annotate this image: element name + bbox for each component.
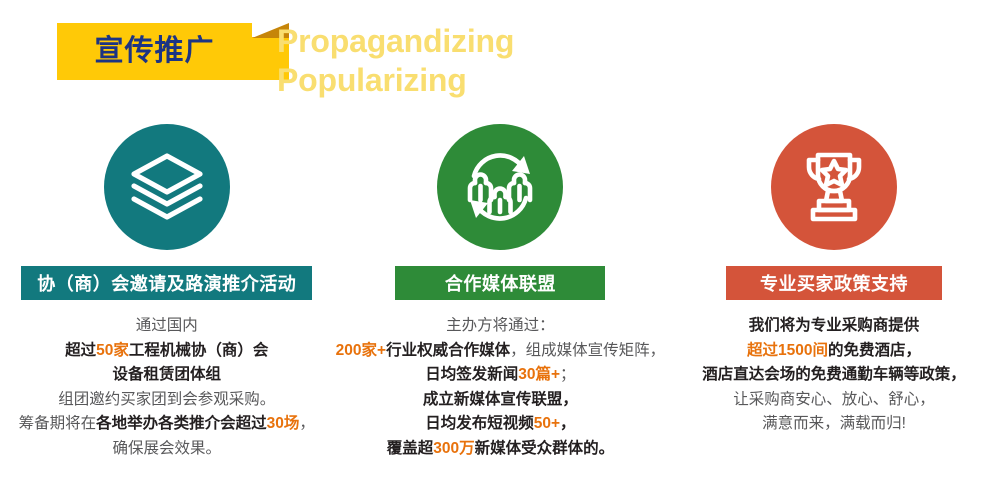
text-segment: ， bbox=[299, 415, 315, 432]
body-text-line: 日均发布短视频50+， bbox=[335, 412, 665, 437]
body-text-line: 让采购商安心、放心、舒心， bbox=[669, 388, 999, 413]
body-text-3: 我们将为专业采购商提供超过1500间的免费酒店，酒店直达会场的免费通勤车辆等政策… bbox=[669, 314, 999, 437]
text-segment: 设备租赁团体组 bbox=[113, 366, 222, 383]
icon-circle-2 bbox=[437, 124, 563, 250]
text-segment: 超过 bbox=[65, 342, 96, 359]
text-segment: 50+ bbox=[534, 415, 560, 432]
text-segment: ，组成媒体宣传矩阵， bbox=[510, 342, 665, 359]
text-segment: 各地举办各类推介会超过 bbox=[96, 415, 267, 432]
text-segment: 让采购商安心、放心、舒心， bbox=[733, 391, 935, 408]
body-text-line: 200家+行业权威合作媒体，组成媒体宣传矩阵， bbox=[335, 339, 665, 364]
section-banner: 宣传推广 bbox=[57, 23, 252, 80]
body-text-line: 超过50家工程机械协（商）会 bbox=[2, 339, 332, 364]
body-text-1: 通过国内超过50家工程机械协（商）会设备租赁团体组组团邀约买家团到会参观采购。筹… bbox=[2, 314, 332, 461]
body-text-line: 酒店直达会场的免费通勤车辆等政策， bbox=[669, 363, 999, 388]
text-segment: 50家 bbox=[96, 342, 129, 359]
text-segment: 新媒体受众群体的。 bbox=[475, 440, 615, 457]
text-segment: 行业权威合作媒体 bbox=[386, 342, 510, 359]
feature-columns: 协（商）会邀请及路演推介活动 通过国内超过50家工程机械协（商）会设备租赁团体组… bbox=[0, 112, 1001, 478]
text-segment: 成立新媒体宣传联盟， bbox=[423, 391, 578, 408]
text-segment: 主办方将通过： bbox=[446, 317, 555, 334]
text-segment: 筹备期将在 bbox=[19, 415, 97, 432]
text-segment: 我们将为专业采购商提供 bbox=[749, 317, 920, 334]
english-heading: Propagandizing Popularizing bbox=[277, 22, 514, 100]
text-segment: 确保展会效果。 bbox=[113, 440, 222, 457]
text-segment: 酒店直达会场的免费通勤车辆等政策， bbox=[702, 366, 966, 383]
body-text-line: 组团邀约买家团到会参观采购。 bbox=[2, 388, 332, 413]
text-segment: 30篇+ bbox=[518, 366, 560, 383]
page-header: 宣传推广 Propagandizing Popularizing bbox=[0, 0, 1001, 112]
chip-label-2: 合作媒体联盟 bbox=[395, 266, 605, 300]
feature-column-2: 合作媒体联盟 主办方将通过：200家+行业权威合作媒体，组成媒体宣传矩阵，日均签… bbox=[334, 112, 668, 478]
body-text-line: 满意而来，满载而归! bbox=[669, 412, 999, 437]
body-text-line: 设备租赁团体组 bbox=[2, 363, 332, 388]
trophy-star-icon bbox=[795, 149, 873, 225]
body-text-line: 通过国内 bbox=[2, 314, 332, 339]
icon-circle-3 bbox=[771, 124, 897, 250]
text-segment: 满意而来，满载而归! bbox=[762, 415, 906, 432]
text-segment: 通过国内 bbox=[136, 317, 198, 334]
body-text-line: 成立新媒体宣传联盟， bbox=[335, 388, 665, 413]
text-segment: 日均签发新闻 bbox=[425, 366, 518, 383]
english-heading-line1: Propagandizing bbox=[277, 23, 514, 59]
text-segment: 30场 bbox=[267, 415, 300, 432]
body-text-line: 超过1500间的免费酒店， bbox=[669, 339, 999, 364]
layers-icon bbox=[129, 151, 205, 223]
text-segment: 组团邀约买家团到会参观采购。 bbox=[58, 391, 275, 408]
body-text-2: 主办方将通过：200家+行业权威合作媒体，组成媒体宣传矩阵，日均签发新闻30篇+… bbox=[335, 314, 665, 461]
text-segment: ， bbox=[560, 415, 576, 432]
text-segment: 超过1500间 bbox=[747, 342, 828, 359]
body-text-line: 确保展会效果。 bbox=[2, 437, 332, 462]
english-heading-line2: Popularizing bbox=[277, 61, 514, 100]
body-text-line: 主办方将通过： bbox=[335, 314, 665, 339]
body-text-line: 我们将为专业采购商提供 bbox=[669, 314, 999, 339]
text-segment: ； bbox=[560, 366, 576, 383]
people-exchange-icon bbox=[461, 150, 539, 224]
feature-column-3: 专业买家政策支持 我们将为专业采购商提供超过1500间的免费酒店，酒店直达会场的… bbox=[667, 112, 1001, 478]
chip-label-3: 专业买家政策支持 bbox=[726, 266, 942, 300]
chip-label-1: 协（商）会邀请及路演推介活动 bbox=[21, 266, 312, 300]
body-text-line: 日均签发新闻30篇+； bbox=[335, 363, 665, 388]
text-segment: 工程机械协（商）会 bbox=[129, 342, 269, 359]
body-text-line: 覆盖超300万新媒体受众群体的。 bbox=[335, 437, 665, 462]
text-segment: 日均发布短视频 bbox=[425, 415, 534, 432]
icon-circle-1 bbox=[104, 124, 230, 250]
body-text-line: 筹备期将在各地举办各类推介会超过30场， bbox=[2, 412, 332, 437]
text-segment: 覆盖超 bbox=[387, 440, 434, 457]
text-segment: 200家+ bbox=[336, 342, 386, 359]
text-segment: 的免费酒店， bbox=[828, 342, 921, 359]
feature-column-1: 协（商）会邀请及路演推介活动 通过国内超过50家工程机械协（商）会设备租赁团体组… bbox=[0, 112, 334, 478]
banner-title: 宣传推广 bbox=[57, 23, 252, 80]
text-segment: 300万 bbox=[433, 440, 474, 457]
